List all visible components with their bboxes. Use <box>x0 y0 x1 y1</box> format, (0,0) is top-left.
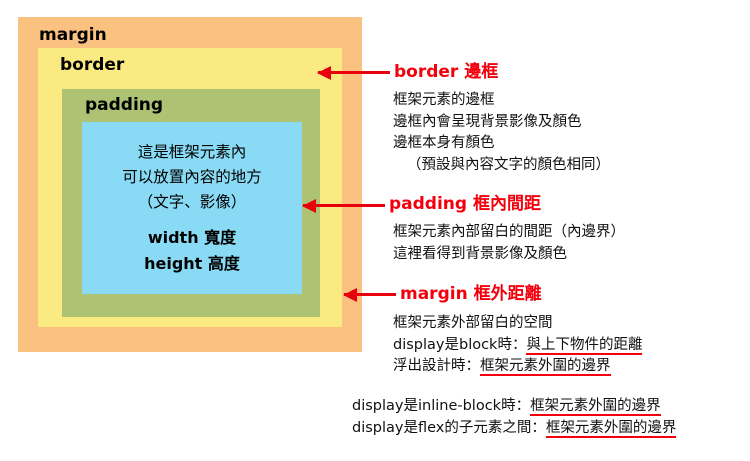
margin-annotation-body: 框架元素外部留白的空間 display是block時：與上下物件的距離 浮出設計… <box>393 313 642 378</box>
padding-annotation-line-1: 框架元素內部留白的間距（內邊界） <box>393 222 625 244</box>
padding-annotation-body: 框架元素內部留白的間距（內邊界） 這裡看得到背景影像及顏色 <box>393 222 625 265</box>
content-text-line-3: （文字、影像） <box>138 190 247 215</box>
margin-annotation-heading: margin 框外距離 <box>400 286 542 303</box>
margin-annotation-line-5: display是flex的子元素之間：框架元素外圍的邊界 <box>352 418 676 440</box>
content-layer: 這是框架元素內 可以放置內容的地方 （文字、影像） width 寬度 heigh… <box>82 122 302 294</box>
padding-annotation-line-2: 這裡看得到背景影像及顏色 <box>393 244 625 266</box>
margin-layer-label: margin <box>39 27 107 44</box>
border-annotation-line-4: （預設與內容文字的顏色相同） <box>393 155 610 177</box>
margin-line2-underlined: 與上下物件的距離 <box>526 337 642 355</box>
box-model-diagram: margin border padding 這是框架元素內 可以放置內容的地方 … <box>18 17 362 352</box>
content-height-label: height 高度 <box>144 251 240 277</box>
padding-annotation-heading: padding 框內間距 <box>389 196 541 213</box>
border-layer: border padding 這是框架元素內 可以放置內容的地方 （文字、影像）… <box>38 48 342 327</box>
margin-annotation-line-1: 框架元素外部留白的空間 <box>393 313 642 335</box>
margin-annotation-line-3: 浮出設計時：框架元素外圍的邊界 <box>393 356 642 378</box>
margin-line5-prefix: display是flex的子元素之間： <box>352 420 546 436</box>
margin-line3-prefix: 浮出設計時： <box>393 358 480 374</box>
left-arrow-icon-margin <box>344 293 396 296</box>
border-annotation-body: 框架元素的邊框 邊框內會呈現背景影像及顏色 邊框本身有顏色 （預設與內容文字的顏… <box>393 90 610 176</box>
margin-annotation-line-4: display是inline-block時：框架元素外圍的邊界 <box>352 396 676 418</box>
left-arrow-icon-padding <box>303 204 385 207</box>
padding-layer: padding 這是框架元素內 可以放置內容的地方 （文字、影像） width … <box>62 89 320 317</box>
margin-annotation-line-2: display是block時：與上下物件的距離 <box>393 335 642 357</box>
content-text-line-1: 這是框架元素內 <box>138 140 247 165</box>
margin-line4-prefix: display是inline-block時： <box>352 398 530 414</box>
content-width-label: width 寬度 <box>148 225 236 251</box>
border-layer-label: border <box>60 57 124 74</box>
border-annotation-line-1: 框架元素的邊框 <box>393 90 610 112</box>
margin-line3-underlined: 框架元素外圍的邊界 <box>480 358 611 376</box>
border-annotation-line-2: 邊框內會呈現背景影像及顏色 <box>393 112 610 134</box>
margin-line2-prefix: display是block時： <box>393 337 526 353</box>
border-annotation-line-3: 邊框本身有顏色 <box>393 133 610 155</box>
margin-line4-underlined: 框架元素外圍的邊界 <box>530 398 661 416</box>
content-text-line-2: 可以放置內容的地方 <box>122 165 262 190</box>
border-annotation-heading: border 邊框 <box>394 64 498 81</box>
margin-annotation-extra: display是inline-block時：框架元素外圍的邊界 display是… <box>352 396 676 439</box>
margin-line5-underlined: 框架元素外圍的邊界 <box>546 420 677 438</box>
left-arrow-icon-border <box>318 71 390 74</box>
padding-layer-label: padding <box>85 97 163 114</box>
